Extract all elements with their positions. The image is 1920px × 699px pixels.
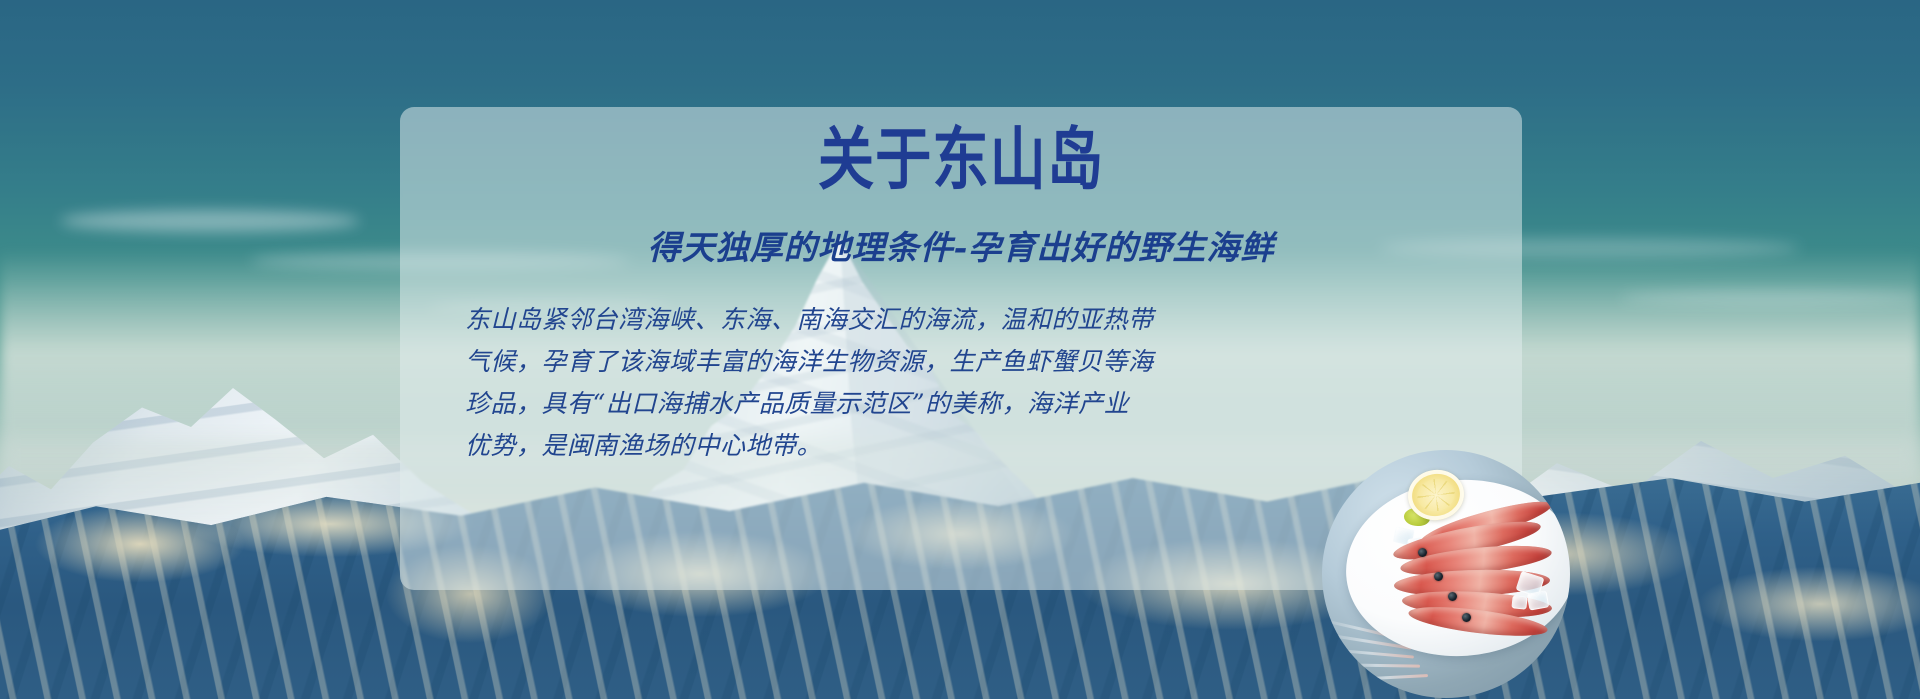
description-paragraph: 东山岛紧邻台湾海峡、东海、南海交汇的海流，温和的亚热带 气候，孕育了该海域丰富的… [461, 299, 1461, 467]
description-line: 气候，孕育了该海域丰富的海洋生物资源，生产鱼虾蟹贝等海 [465, 341, 1461, 383]
page-title: 关于东山岛 [417, 125, 1505, 193]
page-subtitle: 得天独厚的地理条件-孕育出好的野生海鲜 [400, 221, 1522, 269]
ice-cube [1527, 590, 1550, 610]
squid-eye [1448, 592, 1457, 601]
description-line: 优势，是闽南渔场的中心地带。 [465, 425, 1461, 467]
seafood-circle-image [1322, 450, 1570, 698]
ice-cube [1511, 595, 1527, 609]
description-line: 东山岛紧邻台湾海峡、东海、南海交汇的海流，温和的亚热带 [465, 299, 1461, 341]
description-line: 珍品，具有“出口海捕水产品质量示范区”的美称，海洋产业 [465, 383, 1461, 425]
squid-eye [1462, 613, 1471, 622]
hero-banner: 关于东山岛 得天独厚的地理条件-孕育出好的野生海鲜 东山岛紧邻台湾海峡、东海、南… [0, 0, 1920, 699]
squid-eye [1434, 572, 1443, 581]
cloud-wisp [1620, 290, 1920, 306]
cloud-wisp [60, 210, 360, 232]
squid-eye [1418, 548, 1427, 557]
